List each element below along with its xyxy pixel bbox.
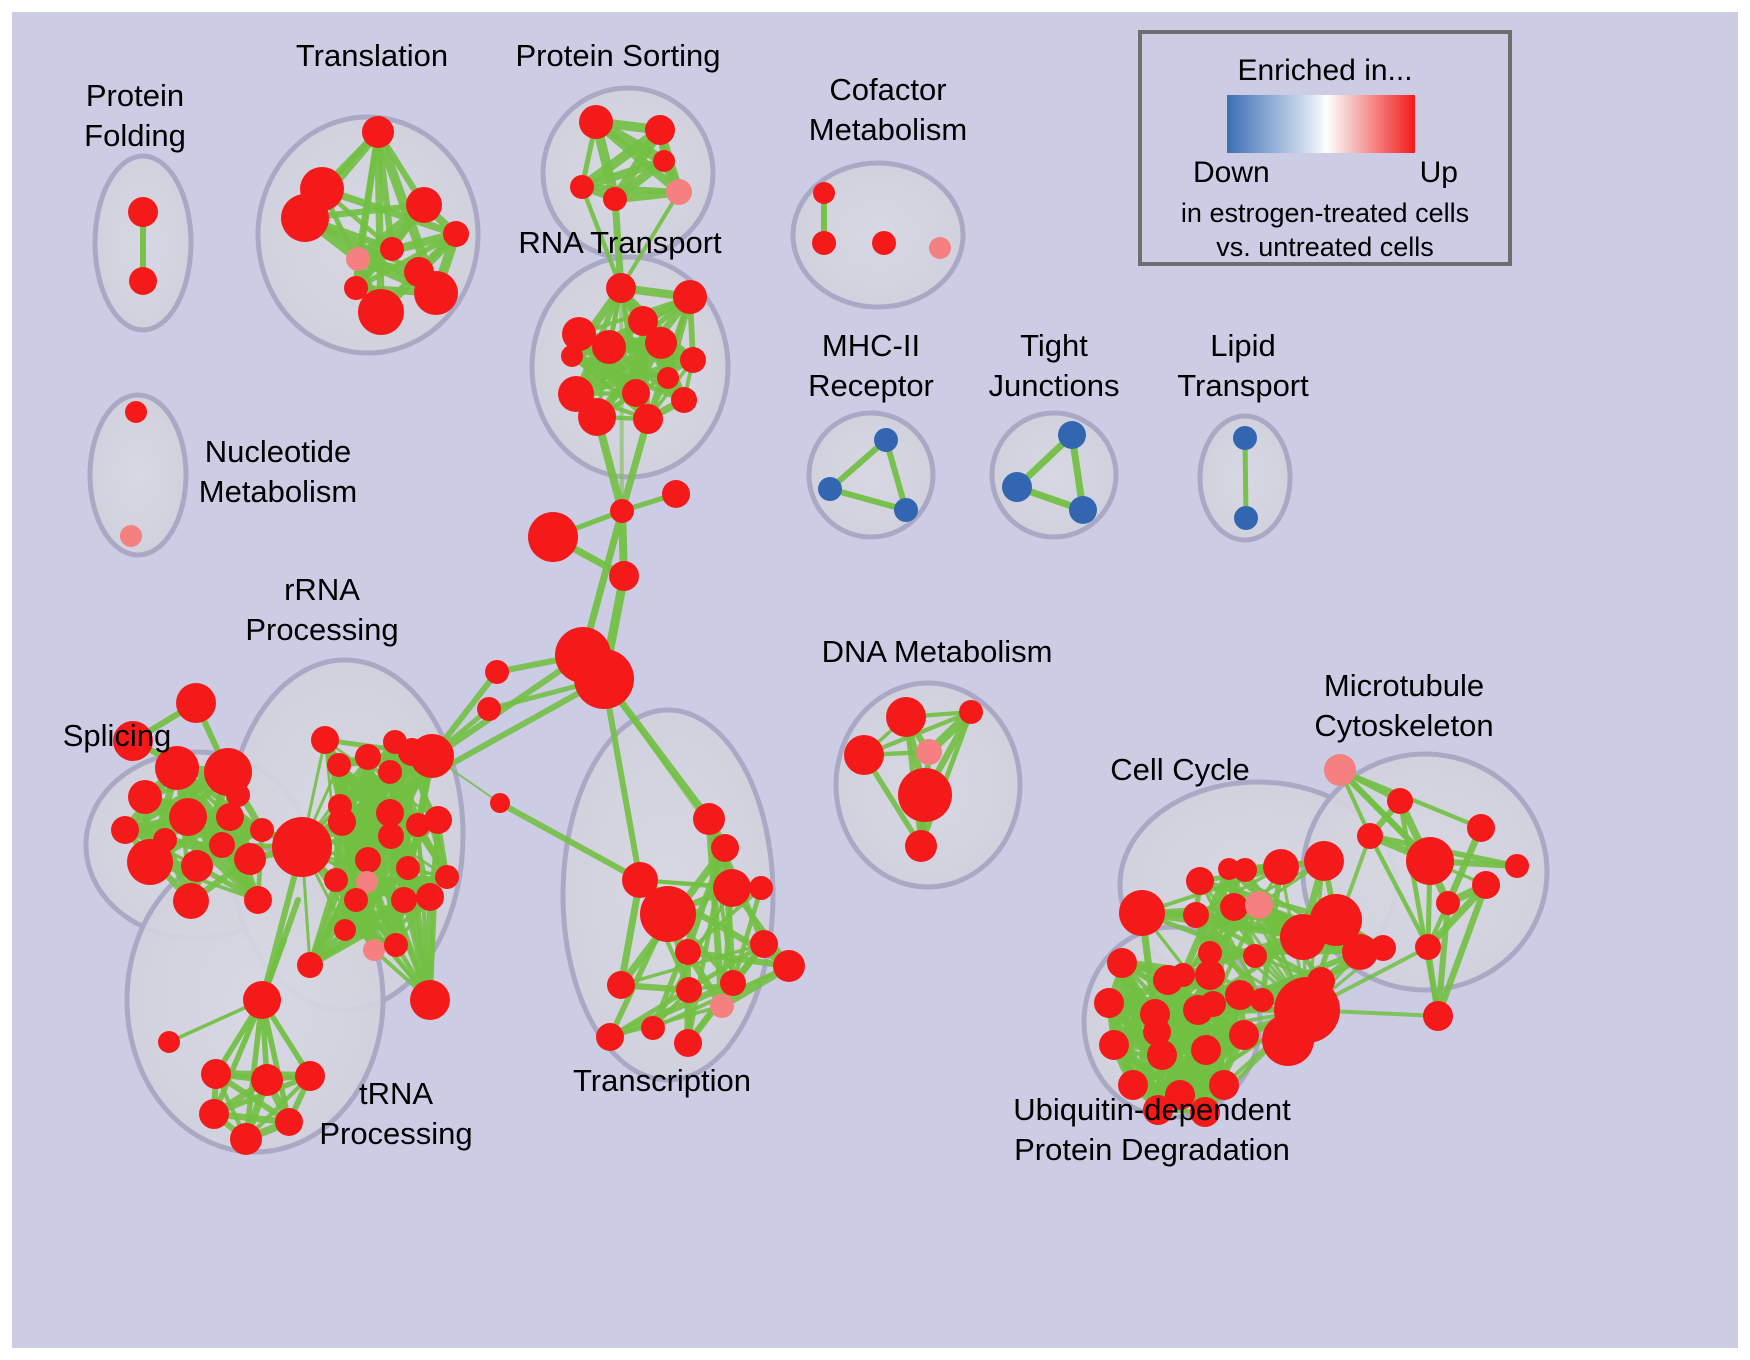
network-node (633, 404, 663, 434)
network-node (579, 105, 613, 139)
network-node (641, 1016, 665, 1040)
network-node (749, 876, 773, 900)
network-node (443, 221, 469, 247)
network-node (209, 832, 235, 858)
network-node (355, 744, 381, 770)
network-node (158, 1031, 180, 1053)
network-node (406, 187, 442, 223)
network-node (391, 887, 417, 913)
network-node (578, 398, 616, 436)
network-node (1229, 1020, 1259, 1050)
network-node (358, 289, 404, 335)
network-node (905, 830, 937, 862)
network-node (1467, 814, 1495, 842)
network-node (346, 247, 370, 271)
network-node (898, 768, 952, 822)
network-node (561, 345, 583, 367)
network-node (355, 847, 381, 873)
network-node (1069, 496, 1097, 524)
network-node (416, 883, 444, 911)
network-node (362, 116, 394, 148)
network-node (410, 734, 454, 778)
network-edge (621, 288, 622, 511)
network-node (201, 1059, 231, 1089)
network-node (324, 868, 348, 892)
network-node (272, 817, 332, 877)
network-node (592, 330, 626, 364)
network-node (570, 175, 594, 199)
network-node (216, 803, 244, 831)
cluster-label-splicing: Splicing (63, 718, 172, 753)
network-node (295, 1061, 325, 1091)
network-node (153, 828, 177, 852)
network-node (424, 806, 452, 834)
network-node (128, 197, 158, 227)
network-node (378, 760, 402, 784)
network-node (1234, 506, 1258, 530)
network-node (1505, 854, 1529, 878)
network-node (120, 525, 142, 547)
network-node (396, 856, 420, 880)
network-edge (378, 132, 381, 312)
network-node (959, 700, 983, 724)
legend-down-label: Down (1193, 156, 1270, 189)
network-node (344, 888, 368, 912)
network-node (410, 980, 450, 1020)
network-node (1119, 890, 1165, 936)
network-node (1370, 935, 1396, 961)
network-node (378, 823, 404, 849)
network-node (169, 798, 207, 836)
network-node (773, 950, 805, 982)
network-node (251, 1064, 283, 1096)
legend-subtitle-line1: in estrogen-treated cells (1181, 198, 1469, 228)
network-node (916, 739, 942, 765)
network-node (1094, 988, 1124, 1018)
network-node (1262, 1014, 1314, 1066)
network-node (622, 379, 650, 407)
network-node (173, 883, 209, 919)
network-node (1218, 858, 1240, 880)
network-node (383, 730, 407, 754)
cluster-label-protein-sorting: Protein Sorting (515, 38, 720, 73)
network-node (657, 367, 679, 389)
network-node (1233, 426, 1257, 450)
legend-subtitle-line2: vs. untreated cells (1216, 232, 1434, 262)
network-node (243, 981, 281, 1019)
network-node (720, 970, 746, 996)
network-node (610, 499, 634, 523)
network-node (872, 231, 896, 255)
network-node (1406, 837, 1454, 885)
network-node (574, 649, 634, 709)
network-node (275, 1108, 303, 1136)
network-node (1304, 841, 1344, 881)
network-node (1220, 893, 1248, 921)
network-node (1191, 1035, 1221, 1065)
network-node (874, 428, 898, 452)
network-node (674, 1029, 702, 1057)
network-node (596, 1023, 624, 1051)
cluster-label-translation: Translation (296, 38, 448, 73)
network-node (607, 971, 635, 999)
network-node (1387, 788, 1413, 814)
network-node (281, 194, 329, 242)
network-node (176, 683, 216, 723)
network-node (435, 865, 459, 889)
network-node (812, 231, 836, 255)
network-node (693, 803, 725, 835)
network-node (1153, 965, 1183, 995)
network-node (645, 327, 677, 359)
network-node (710, 994, 734, 1018)
network-node (1107, 948, 1137, 978)
network-node (234, 843, 266, 875)
network-node (844, 735, 884, 775)
network-node (1195, 960, 1225, 990)
network-node (1243, 944, 1267, 968)
network-node (1263, 849, 1299, 885)
network-node (645, 115, 675, 145)
network-node (750, 930, 778, 958)
network-node (711, 834, 739, 862)
network-node (297, 952, 323, 978)
network-node (111, 816, 139, 844)
network-node (1186, 867, 1214, 895)
cluster-label-dna-metabolism: DNA Metabolism (822, 634, 1053, 669)
network-node (1099, 1030, 1129, 1060)
network-node (894, 498, 918, 522)
network-node (818, 477, 842, 501)
network-node (490, 793, 510, 813)
cluster-label-transcription: Transcription (573, 1063, 751, 1098)
network-node (230, 1123, 262, 1155)
network-node (1147, 1040, 1177, 1070)
network-node (673, 280, 707, 314)
network-node (1472, 871, 1500, 899)
network-node (128, 780, 162, 814)
network-node (609, 561, 639, 591)
cluster-label-rna-transport: RNA Transport (518, 225, 722, 260)
network-node (1058, 421, 1086, 449)
network-node (244, 886, 272, 914)
network-node (886, 697, 926, 737)
network-node (1183, 902, 1209, 928)
network-node (485, 660, 509, 684)
network-edge (1245, 438, 1246, 518)
network-node (1415, 934, 1441, 960)
network-node (528, 512, 578, 562)
network-node (1423, 1001, 1453, 1031)
network-node (226, 783, 250, 807)
network-node (199, 1099, 229, 1129)
legend-color-bar (1227, 95, 1415, 153)
network-node (653, 150, 675, 172)
network-node (675, 939, 701, 965)
network-node (666, 179, 692, 205)
network-node (477, 697, 501, 721)
network-node (606, 273, 636, 303)
network-node (929, 237, 951, 259)
network-node (671, 387, 697, 413)
network-node (1140, 999, 1170, 1029)
network-node (662, 480, 690, 508)
network-node (1357, 823, 1383, 849)
network-node (311, 726, 339, 754)
network-node (1245, 891, 1273, 919)
network-node (363, 939, 385, 961)
network-node (380, 237, 404, 261)
network-node (129, 267, 157, 295)
network-node (1183, 995, 1213, 1025)
figure-canvas: ProteinFoldingTranslationProtein Sorting… (0, 0, 1750, 1360)
network-node (676, 977, 702, 1003)
network-node (328, 808, 356, 836)
network-node (384, 933, 408, 957)
legend-title: Enriched in... (1237, 54, 1412, 87)
network-node (603, 187, 627, 211)
network-node (813, 182, 835, 204)
network-node (1002, 472, 1032, 502)
legend-up-label: Up (1420, 156, 1458, 189)
network-node (562, 317, 596, 351)
network-diagram: ProteinFoldingTranslationProtein Sorting… (0, 0, 1750, 1360)
network-node (125, 401, 147, 423)
network-node (1225, 980, 1255, 1010)
network-node (334, 919, 356, 941)
network-node (1436, 891, 1460, 915)
network-node (376, 799, 404, 827)
network-node (680, 347, 706, 373)
network-node (713, 869, 751, 907)
network-node (327, 753, 351, 777)
cluster-label-cell-cycle: Cell Cycle (1110, 752, 1250, 787)
network-node (1324, 754, 1356, 786)
network-node (640, 886, 696, 942)
network-node (414, 271, 458, 315)
network-node (250, 818, 274, 842)
network-node (181, 850, 213, 882)
